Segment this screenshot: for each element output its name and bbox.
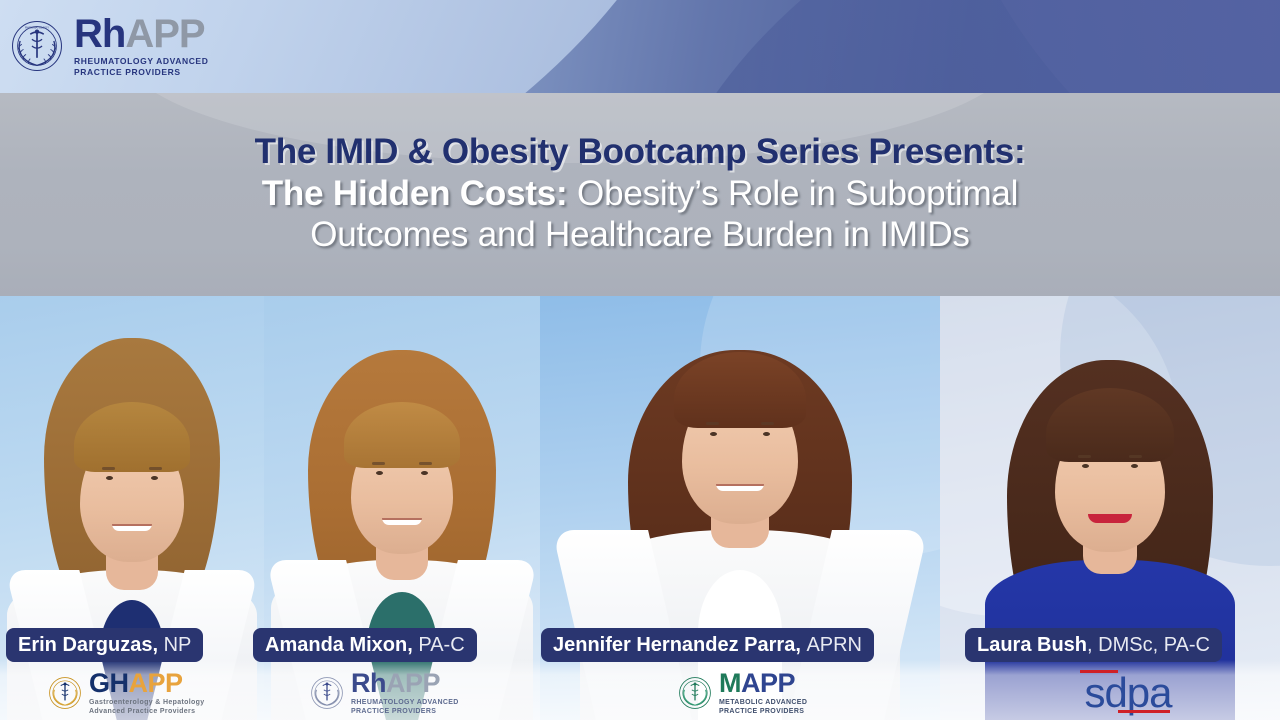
rhapp-footer-word-primary: Rh: [351, 668, 386, 698]
ghapp-subtitle-line2: Advanced Practice Providers: [89, 707, 205, 716]
series-title: The IMID & Obesity Bootcamp Series Prese…: [0, 133, 1280, 170]
headline-line-1: The Hidden Costs: Obesity’s Role in Subo…: [0, 174, 1280, 215]
footer-logo-row: GHAPP Gastroenterology & Hepatology Adva…: [0, 666, 1280, 720]
speaker-credentials-4: , DMSc, PA-C: [1087, 635, 1210, 655]
mapp-subtitle-line1: METABOLIC ADVANCED: [719, 698, 807, 707]
mapp-word-secondary: APP: [741, 668, 795, 698]
rhapp-footer-subtitle-line1: RHEUMATOLOGY ADVANCED: [351, 698, 459, 707]
speaker-name-badges: Erin Darguzas, NP Amanda Mixon, PA-C Jen…: [0, 628, 1280, 666]
speaker-name-1: Erin Darguzas,: [18, 635, 158, 655]
headline-line-2: Outcomes and Healthcare Burden in IMIDs: [0, 215, 1280, 256]
header-band: RHEUMATOLOGY RhAPP RHEUMATOLOGY ADVANCED…: [0, 0, 1280, 95]
ghapp-word-secondary: APP: [129, 668, 183, 698]
caduceus-laurel-crest-icon: [678, 676, 712, 710]
mapp-subtitle-line2: PRACTICE PROVIDERS: [719, 707, 807, 716]
caduceus-laurel-crest-icon: [48, 676, 82, 710]
mapp-word-primary: M: [719, 668, 741, 698]
svg-text:RHEUMATOLOGY: RHEUMATOLOGY: [25, 26, 49, 30]
caduceus-laurel-crest-icon: [310, 676, 344, 710]
title-band: The IMID & Obesity Bootcamp Series Prese…: [0, 93, 1280, 296]
speaker-name-2: Amanda Mixon,: [265, 635, 413, 655]
speaker-badge-2[interactable]: Amanda Mixon, PA-C: [253, 628, 477, 662]
caduceus-laurel-crest-icon: RHEUMATOLOGY: [10, 19, 64, 73]
rhapp-footer-subtitle-line2: PRACTICE PROVIDERS: [351, 707, 459, 716]
rhapp-footer-wordmark: RhAPP RHEUMATOLOGY ADVANCED PRACTICE PRO…: [351, 670, 459, 716]
sdpa-wordmark-icon: sdpa: [1058, 668, 1198, 718]
speaker-credentials-2: PA-C: [418, 635, 464, 655]
webinar-promo-slide: RHEUMATOLOGY RhAPP RHEUMATOLOGY ADVANCED…: [0, 0, 1280, 720]
sdpa-accent-bar-bottom: [1118, 710, 1170, 713]
mapp-logo[interactable]: MAPP METABOLIC ADVANCED PRACTICE PROVIDE…: [678, 666, 807, 720]
rhapp-wordmark: RhAPP RHEUMATOLOGY ADVANCED PRACTICE PRO…: [74, 14, 208, 79]
ghapp-logo[interactable]: GHAPP Gastroenterology & Hepatology Adva…: [48, 666, 205, 720]
rhapp-footer-logo[interactable]: RhAPP RHEUMATOLOGY ADVANCED PRACTICE PRO…: [310, 666, 459, 720]
ghapp-word-primary: GH: [89, 668, 129, 698]
speaker-badge-4[interactable]: Laura Bush, DMSc, PA-C: [965, 628, 1222, 662]
rhapp-subtitle-line2: PRACTICE PROVIDERS: [74, 67, 208, 78]
ghapp-wordmark: GHAPP Gastroenterology & Hepatology Adva…: [89, 670, 205, 716]
headline-emphasis: The Hidden Costs:: [262, 174, 568, 213]
sdpa-logo[interactable]: sdpa: [1058, 666, 1198, 720]
speaker-badge-1[interactable]: Erin Darguzas, NP: [6, 628, 203, 662]
sdpa-wordmark-text: sdpa: [1058, 672, 1198, 714]
speaker-credentials-3: APRN: [806, 635, 862, 655]
rhapp-word-primary: Rh: [74, 12, 125, 56]
speaker-name-4: Laura Bush: [977, 635, 1087, 655]
headline-rest: Obesity’s Role in Suboptimal: [568, 174, 1019, 213]
rhapp-word-secondary: APP: [125, 12, 204, 56]
speaker-badge-3[interactable]: Jennifer Hernandez Parra, APRN: [541, 628, 874, 662]
rhapp-subtitle-line1: RHEUMATOLOGY ADVANCED: [74, 56, 208, 67]
rhapp-header-logo[interactable]: RHEUMATOLOGY RhAPP RHEUMATOLOGY ADVANCED…: [10, 14, 208, 79]
speaker-name-3: Jennifer Hernandez Parra,: [553, 635, 801, 655]
rhapp-footer-word-secondary: APP: [386, 668, 440, 698]
speaker-credentials-1: NP: [164, 635, 192, 655]
ghapp-subtitle-line1: Gastroenterology & Hepatology: [89, 698, 205, 707]
mapp-wordmark: MAPP METABOLIC ADVANCED PRACTICE PROVIDE…: [719, 670, 807, 716]
